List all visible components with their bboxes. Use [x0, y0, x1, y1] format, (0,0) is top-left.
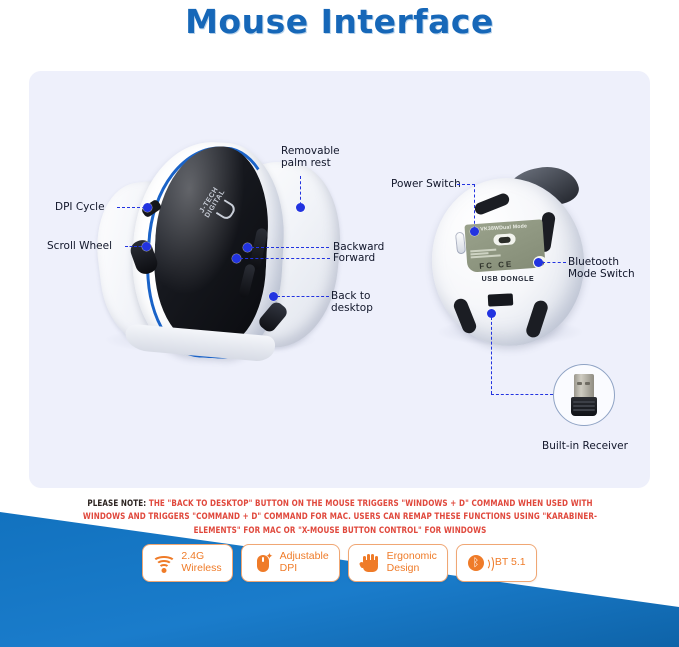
- infographic-canvas: Mouse Interface J-TECH DIGITAL DPI Cycle…: [0, 0, 679, 647]
- usb-receiver-graphic: [553, 364, 615, 426]
- callout-dot-dpi-cycle: [143, 203, 152, 212]
- disclaimer-note: PLEASE NOTE: THE "BACK TO DESKTOP" BUTTO…: [70, 498, 609, 538]
- callout-label-forward: Forward: [333, 252, 375, 264]
- callout-dot-palm-rest: [296, 203, 305, 212]
- badge-label: Adjustable DPI: [280, 551, 329, 575]
- callout-dot-scroll-wheel: [142, 242, 151, 251]
- usb-dongle-slot: [488, 293, 514, 306]
- callout-dot-power-switch: [470, 227, 479, 236]
- usb-dongle-icon: [571, 374, 597, 416]
- callout-label-dpi-cycle: DPI Cycle: [55, 201, 105, 213]
- badge-adjustable-dpi[interactable]: ✦ Adjustable DPI: [241, 544, 340, 582]
- mouse-dpi-icon: ✦: [252, 552, 274, 574]
- sticker-cert-marks: FC CE: [479, 259, 514, 270]
- usb-housing: [571, 397, 597, 416]
- callout-line-bluetooth-mode-switch: [542, 262, 566, 263]
- usb-connector: [574, 374, 594, 399]
- callout-label-bluetooth-mode-switch: Bluetooth Mode Switch: [568, 256, 635, 280]
- badge-bluetooth-51[interactable]: ᛒ BT 5.1: [456, 544, 537, 582]
- wifi-icon: [153, 552, 175, 574]
- callout-line-back-to-desktop: [277, 296, 329, 297]
- note-prefix: PLEASE NOTE:: [87, 499, 146, 509]
- hand-icon: [359, 552, 381, 574]
- callout-line-forward: [240, 258, 330, 259]
- callout-label-back-to-desktop: Back to desktop: [331, 290, 373, 314]
- callout-line-power-switch-v: [474, 184, 475, 229]
- callout-line-palm-rest: [300, 176, 301, 205]
- callout-line-backward: [251, 247, 329, 248]
- callout-label-scroll-wheel: Scroll Wheel: [47, 240, 112, 252]
- feature-badge-row: 2.4G Wireless ✦ Adjustable DPI Ergonomic…: [0, 544, 679, 582]
- callout-line-dpi-cycle: [117, 207, 145, 208]
- page-title: Mouse Interface: [0, 2, 679, 41]
- sticker-fineprint: [470, 245, 544, 258]
- callout-line-power-switch-h: [457, 184, 475, 185]
- callout-line-dongle-v: [491, 317, 492, 394]
- badge-ergonomic-design[interactable]: Ergonomic Design: [348, 544, 448, 582]
- note-body: THE "BACK TO DESKTOP" BUTTON ON THE MOUS…: [83, 499, 597, 536]
- mouse-bottom-view: VK38WDual Mode FC CE USB DONGLE: [430, 170, 590, 355]
- optical-sensor: [493, 233, 516, 246]
- badge-24g-wireless[interactable]: 2.4G Wireless: [142, 544, 232, 582]
- callout-label-removable-palm-rest: Removable palm rest: [281, 145, 340, 169]
- receiver-caption: Built-in Receiver: [525, 440, 645, 452]
- badge-label: 2.4G Wireless: [181, 551, 221, 575]
- usb-dongle-label: USB DONGLE: [466, 276, 550, 283]
- badge-label: Ergonomic Design: [387, 551, 437, 575]
- callout-label-power-switch: Power Switch: [391, 178, 461, 190]
- bluetooth-icon: ᛒ: [467, 552, 489, 574]
- badge-label: BT 5.1: [495, 557, 526, 569]
- callout-line-dongle-h: [491, 394, 553, 395]
